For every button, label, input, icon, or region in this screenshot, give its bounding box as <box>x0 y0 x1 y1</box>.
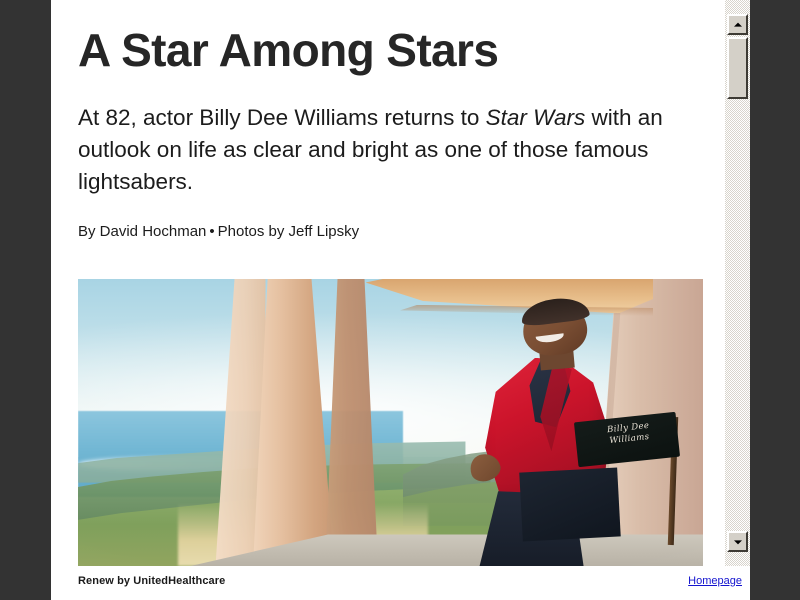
chair-seat <box>519 467 620 541</box>
footer-row: Renew by UnitedHealthcare Homepage <box>78 575 742 587</box>
page-title: A Star Among Stars <box>51 0 724 76</box>
scroll-down-button[interactable] <box>727 531 748 552</box>
hero-photo-image: Billy DeeWilliams <box>78 279 703 566</box>
chevron-up-icon <box>734 22 742 26</box>
byline: By David Hochman•Photos by Jeff Lipsky <box>51 197 724 241</box>
chevron-down-icon <box>734 540 742 544</box>
vertical-scrollbar[interactable] <box>724 0 750 566</box>
byline-author: By David Hochman <box>78 223 206 240</box>
homepage-link[interactable]: Homepage <box>688 575 742 587</box>
article-deck: At 82, actor Billy Dee Williams returns … <box>51 76 724 198</box>
deck-title-star-wars: Star Wars <box>486 105 586 130</box>
left-gutter <box>0 0 51 600</box>
article-content: A Star Among Stars At 82, actor Billy De… <box>51 0 724 566</box>
right-gutter <box>750 0 800 600</box>
page: A Star Among Stars At 82, actor Billy De… <box>51 0 750 600</box>
photo-subject-billy-dee-williams: Billy DeeWilliams <box>466 299 679 566</box>
scroll-up-button[interactable] <box>727 14 748 35</box>
deck-text-lead: At 82, actor Billy Dee Williams returns … <box>78 105 486 130</box>
page-footer: Renew by UnitedHealthcare Homepage <box>51 566 750 600</box>
byline-separator-bullet: • <box>206 223 217 240</box>
hero-photo: Billy DeeWilliams <box>78 279 703 566</box>
byline-photographer: Photos by Jeff Lipsky <box>218 223 359 240</box>
footer-brand-label: Renew by UnitedHealthcare <box>78 575 225 587</box>
screen: A Star Among Stars At 82, actor Billy De… <box>0 0 800 600</box>
scrollbar-thumb[interactable] <box>727 37 748 99</box>
